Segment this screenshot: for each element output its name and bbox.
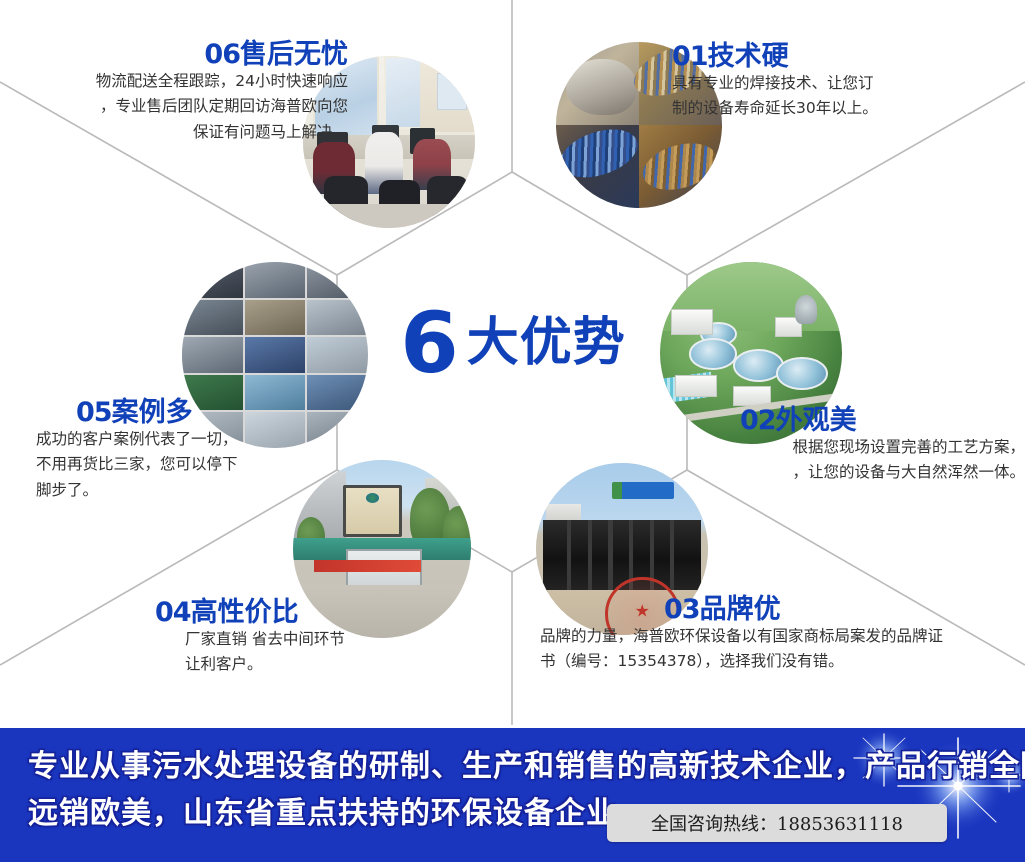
advantage-02-desc-line-2: ，让您的设备与大自然浑然一体。 (740, 460, 1025, 485)
advantage-01-desc-line-1: 具有专业的焊接技术、让您订 (672, 71, 1002, 96)
advantage-02-description: 根据您现场设置完善的工艺方案， ，让您的设备与大自然浑然一体。 (740, 435, 1025, 485)
advantage-04-desc-line-2: 让利客户。 (185, 652, 485, 677)
advantage-05-desc-line-3: 脚步了。 (36, 478, 336, 503)
advantage-03-title: 品牌优 (700, 594, 781, 624)
advantage-01-title: 技术硬 (708, 41, 789, 71)
advantage-01-number: 01 (672, 41, 708, 72)
advantage-06-desc-line-3: 保证有问题马上解决。 (18, 120, 348, 145)
advantage-05-desc-line-1: 成功的客户案例代表了一切， (36, 427, 336, 452)
center-number: 6 (400, 301, 456, 385)
center-title: 6 大优势 (358, 288, 668, 398)
center-word: 大优势 (467, 317, 626, 369)
advantage-03-desc-line-2: 书（编号：15354378），选择我们没有错。 (540, 649, 960, 674)
advantage-01-heading: 01技术硬 (672, 42, 1002, 71)
advantage-03-description: 品牌的力量，海普欧环保设备以有国家商标局案发的品牌证 书（编号：15354378… (540, 624, 960, 674)
advantage-05-block: 05案例多 成功的客户案例代表了一切， 不用再货比三家，您可以停下 脚步了。 (36, 398, 336, 503)
advantage-04-block: 04高性价比 厂家直销 省去中间环节 让利客户。 (155, 598, 485, 678)
advantage-05-desc-line-2: 不用再货比三家，您可以停下 (36, 452, 336, 477)
advantage-06-description: 物流配送全程跟踪，24小时快速响应 ，专业售后团队定期回访海普欧向您 保证有问题… (18, 69, 348, 144)
advantage-06-block: 06售后无忧 物流配送全程跟踪，24小时快速响应 ，专业售后团队定期回访海普欧向… (18, 40, 348, 145)
banner-line-1: 专业从事污水处理设备的研制、生产和销售的高新技术企业，产品行销全国并 (28, 744, 908, 791)
advantage-01-block: 01技术硬 具有专业的焊接技术、让您订 制的设备寿命延长30年以上。 (672, 42, 1002, 122)
advantage-06-title: 售后无忧 (240, 39, 348, 69)
advantage-06-heading: 06售后无忧 (18, 40, 348, 69)
advantage-02-title: 外观美 (776, 405, 857, 435)
advantage-03-desc-line-1: 品牌的力量，海普欧环保设备以有国家商标局案发的品牌证 (540, 624, 960, 649)
advantage-03-heading: 03品牌优 (664, 595, 960, 624)
advantage-06-desc-line-1: 物流配送全程跟踪，24小时快速响应 (18, 69, 348, 94)
advantage-06-number: 06 (204, 39, 240, 70)
advantage-05-heading: 05案例多 (76, 398, 336, 427)
advantage-04-description: 厂家直销 省去中间环节 让利客户。 (185, 627, 485, 677)
infographic-canvas: 6 大优势 (0, 0, 1025, 862)
advantage-04-desc-line-1: 厂家直销 省去中间环节 (185, 627, 485, 652)
advantage-04-heading: 04高性价比 (155, 598, 485, 627)
advantage-05-description: 成功的客户案例代表了一切， 不用再货比三家，您可以停下 脚步了。 (36, 427, 336, 502)
advantage-05-title: 案例多 (112, 397, 193, 427)
advantage-04-title: 高性价比 (191, 597, 299, 627)
advantage-01-description: 具有专业的焊接技术、让您订 制的设备寿命延长30年以上。 (672, 71, 1002, 121)
advantage-05-number: 05 (76, 397, 112, 428)
advantage-03-number: 03 (664, 594, 700, 625)
advantage-02-heading: 02外观美 (740, 406, 1025, 435)
hotline-box[interactable]: 全国咨询热线：18853631118 (607, 804, 947, 842)
advantage-03-block: 03品牌优 品牌的力量，海普欧环保设备以有国家商标局案发的品牌证 书（编号：15… (540, 595, 960, 675)
advantage-06-desc-line-2: ，专业售后团队定期回访海普欧向您 (18, 94, 348, 119)
advantage-01-desc-line-2: 制的设备寿命延长30年以上。 (672, 96, 1002, 121)
brand-logo-watermark (612, 482, 674, 499)
advantage-02-number: 02 (740, 405, 776, 436)
advantage-02-block: 02外观美 根据您现场设置完善的工艺方案， ，让您的设备与大自然浑然一体。 (740, 406, 1025, 486)
advantage-04-number: 04 (155, 597, 191, 628)
advantage-02-desc-line-1: 根据您现场设置完善的工艺方案， (740, 435, 1025, 460)
hotline-text: 全国咨询热线：18853631118 (651, 810, 903, 836)
